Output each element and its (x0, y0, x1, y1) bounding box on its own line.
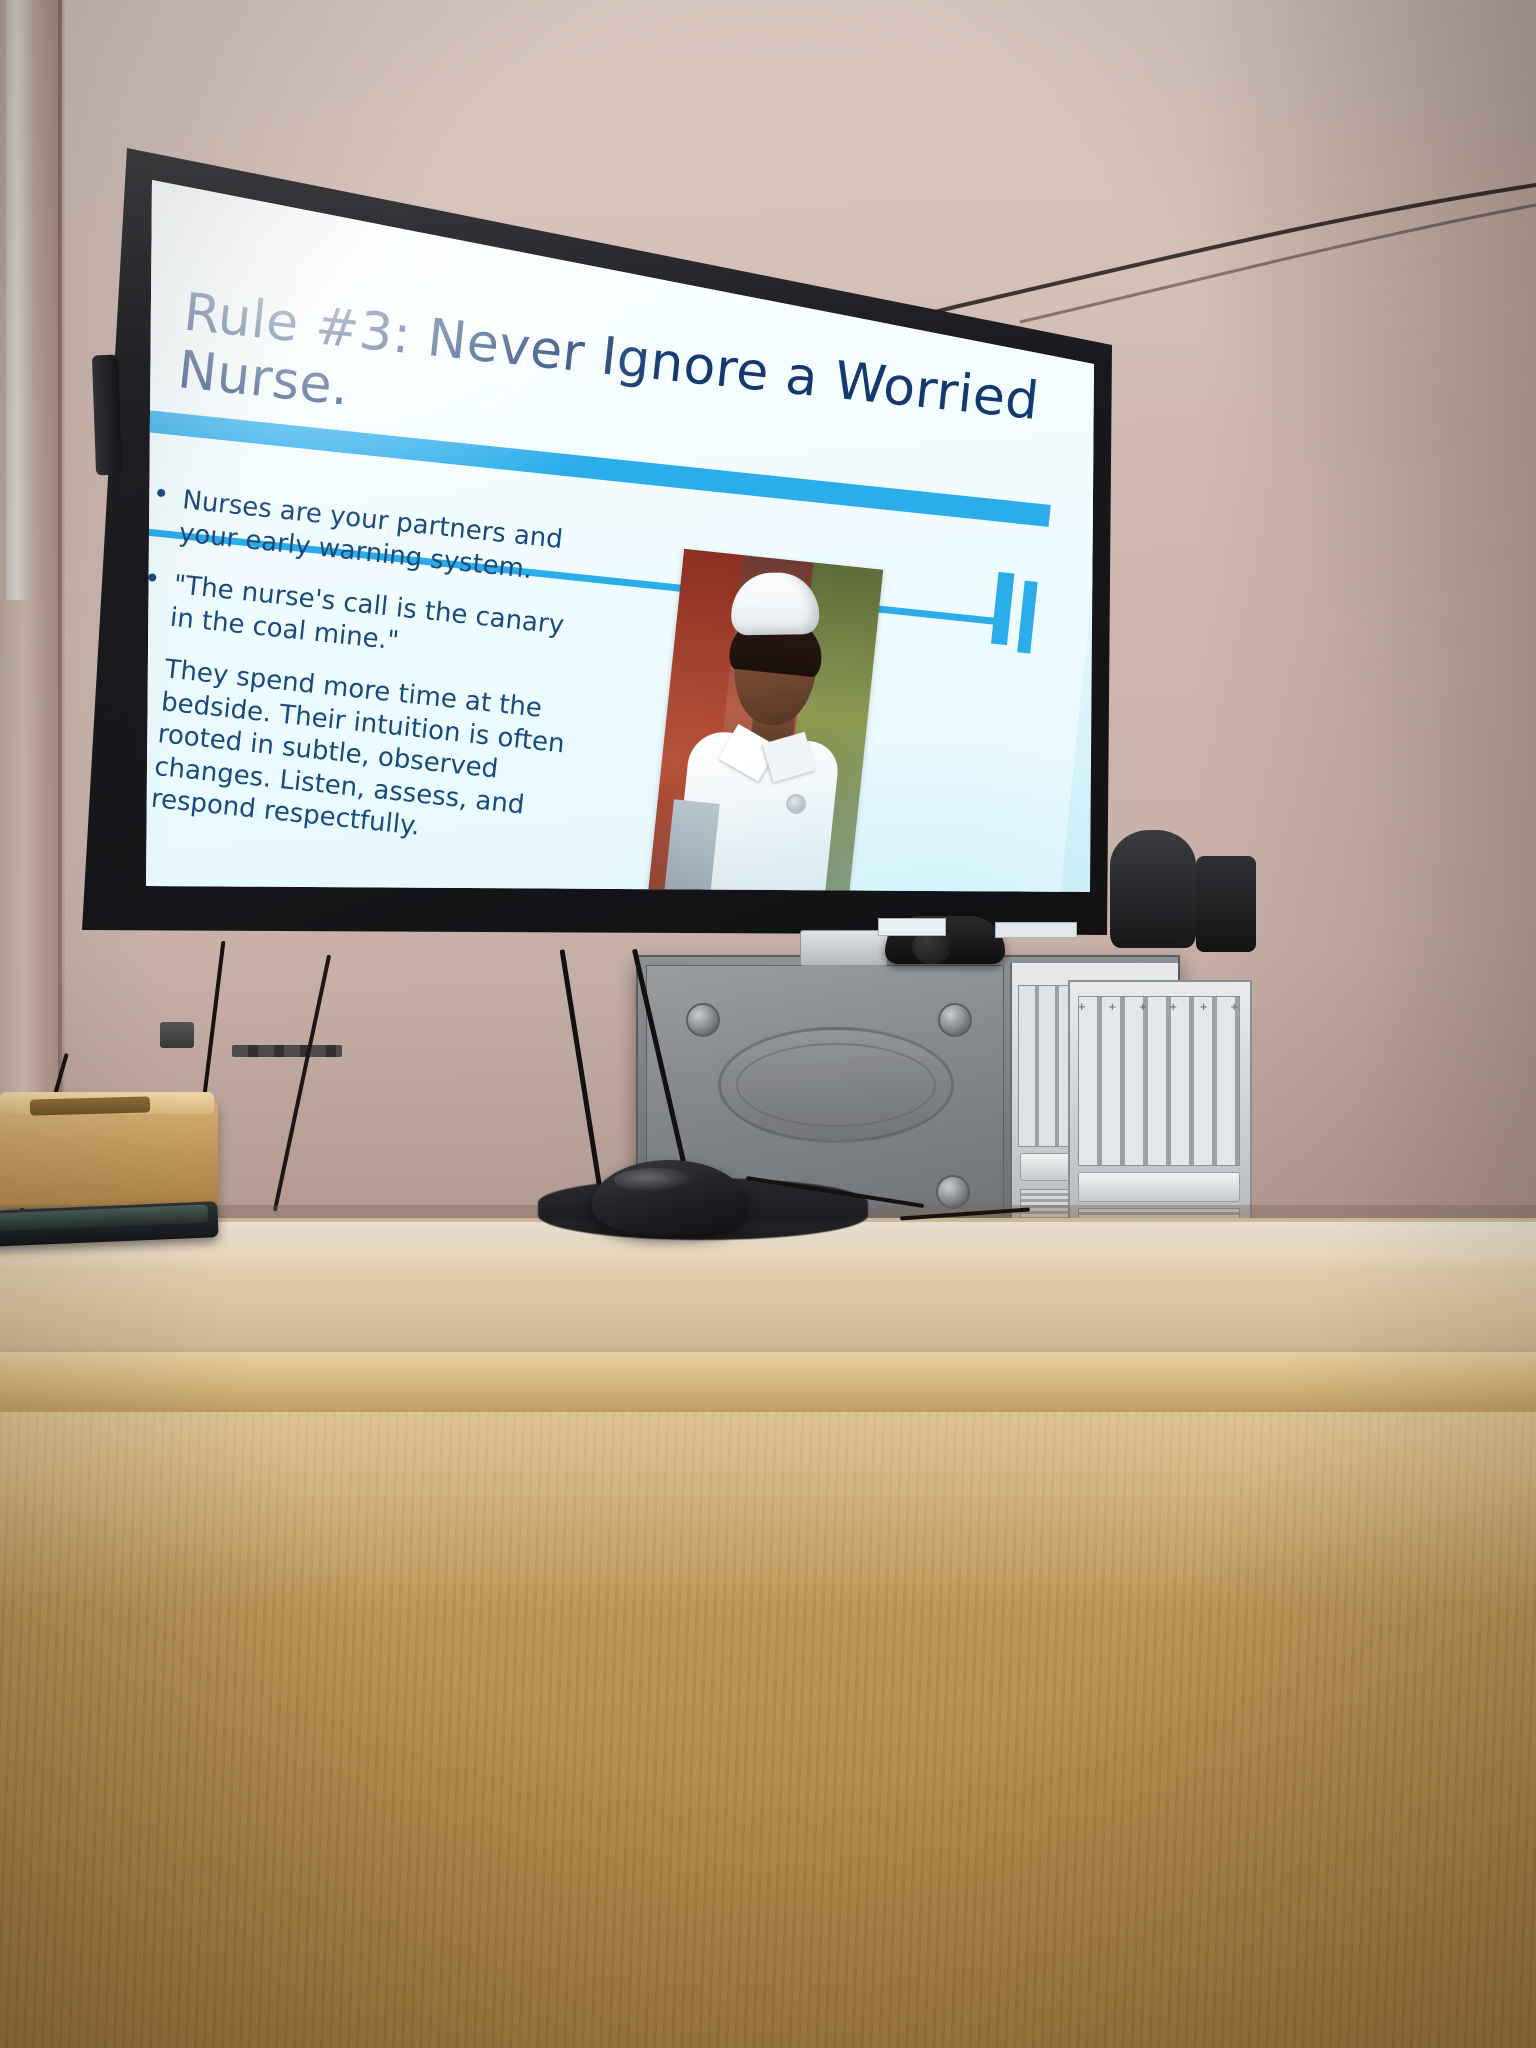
tower-screw (686, 1003, 720, 1037)
counter-edge (0, 1352, 1536, 1418)
rack-slot-markers: + + + + + + (1078, 1000, 1238, 1013)
rack-marker: + (1139, 1000, 1147, 1013)
tower-screw (936, 1175, 970, 1209)
rack-marker: + (1200, 1000, 1208, 1013)
rack-drive-bay (1078, 1172, 1240, 1202)
rack-marker: + (1108, 1000, 1116, 1013)
dark-object-far-right (1196, 856, 1256, 952)
rack-slot-covers (1078, 996, 1240, 1166)
tower-screw (938, 1003, 972, 1037)
nurse-cap-icon (730, 572, 819, 636)
device-label-2 (995, 922, 1077, 938)
photo-scene: SAMSUNG Rule #3: Never Ignore a Worried … (0, 0, 1536, 2048)
small-device-box (800, 930, 888, 966)
display-badge (160, 1022, 194, 1048)
bullet-dot-icon (157, 489, 166, 498)
counter-front-sheen (0, 1412, 1536, 1612)
rack-marker: + (1230, 1000, 1238, 1013)
mouse-highlight (614, 1168, 694, 1192)
device-label-1 (878, 918, 946, 936)
list-item: They spend more time at the bedside. The… (142, 650, 580, 859)
bullet-text: They spend more time at the bedside. The… (150, 654, 566, 841)
display-ports (232, 1045, 342, 1057)
display-side-mount (92, 355, 122, 476)
wooden-block-notch (30, 1096, 150, 1115)
rack-marker: + (1169, 1000, 1177, 1013)
nurse-photo (644, 549, 883, 898)
left-pillar-edge (58, 0, 66, 1180)
left-pillar-strip (6, 0, 32, 600)
dark-object-right (1110, 830, 1196, 948)
bullet-dot-icon (148, 573, 157, 582)
tower-speaker-ring-inner (736, 1043, 936, 1127)
slide-bullet-list: Nurses are your partners and your early … (142, 481, 598, 879)
rack-marker: + (1078, 1000, 1086, 1013)
